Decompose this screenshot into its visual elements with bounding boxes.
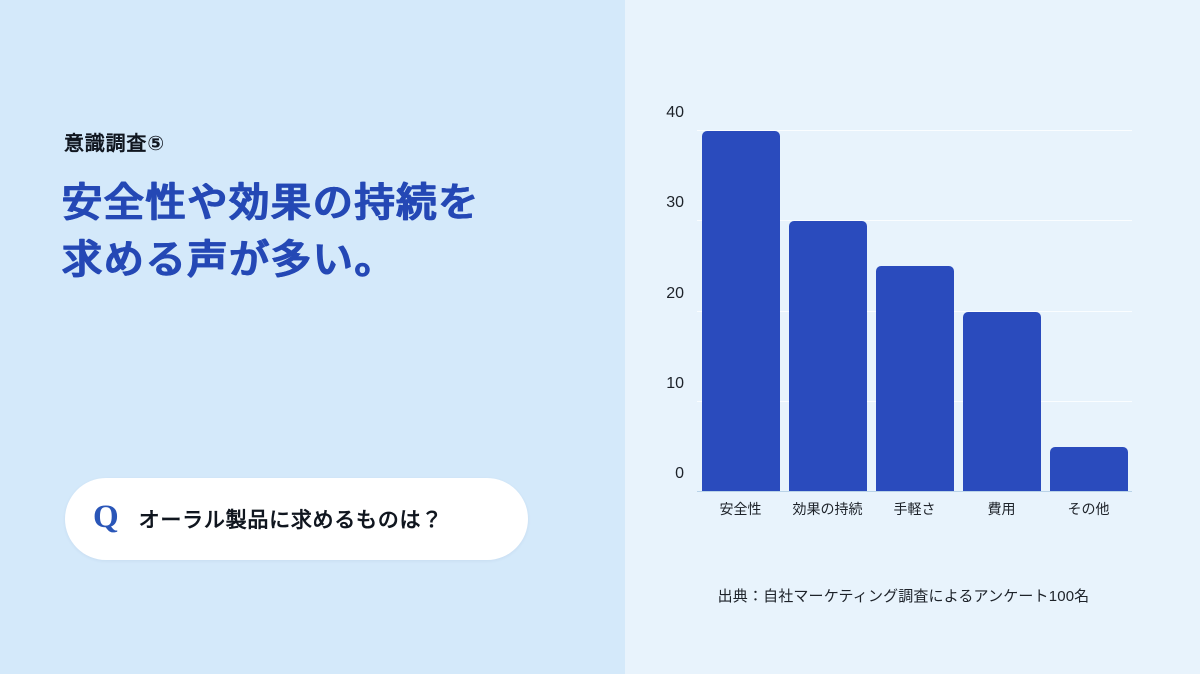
bar-slot bbox=[1045, 131, 1132, 492]
chart-x-axis-line bbox=[697, 491, 1132, 493]
x-axis-tick-label: 手軽さ bbox=[871, 499, 958, 519]
bar-slot bbox=[697, 131, 784, 492]
y-axis-tick-label: 20 bbox=[666, 285, 684, 303]
chart-bar[interactable] bbox=[1050, 447, 1128, 492]
y-axis-tick-label: 10 bbox=[666, 375, 684, 393]
page-title: 安全性や効果の持続を 求める声が多い。 bbox=[62, 175, 480, 289]
x-axis-tick-label: 安全性 bbox=[697, 499, 784, 519]
chart-x-axis-labels: 安全性効果の持続手軽さ費用その他 bbox=[697, 499, 1132, 519]
left-panel: 意識調査⑤ 安全性や効果の持続を 求める声が多い。 Q オーラル製品に求めるもの… bbox=[0, 0, 625, 674]
y-axis-tick-label: 40 bbox=[666, 104, 684, 122]
right-panel: 010203040 安全性効果の持続手軽さ費用その他 出典：自社マーケティング調… bbox=[625, 0, 1200, 674]
bar-slot bbox=[871, 131, 958, 492]
chart-bars bbox=[697, 131, 1132, 492]
x-axis-tick-label: 効果の持続 bbox=[784, 499, 871, 519]
chart-bar[interactable] bbox=[789, 221, 867, 492]
eyebrow-label: 意識調査⑤ bbox=[64, 127, 165, 156]
source-note: 出典：自社マーケティング調査によるアンケート100名 bbox=[625, 585, 1200, 606]
chart-bar[interactable] bbox=[963, 312, 1041, 493]
x-axis-tick-label: その他 bbox=[1045, 499, 1132, 519]
chart-bar[interactable] bbox=[876, 266, 954, 492]
y-axis-tick-label: 0 bbox=[675, 465, 684, 483]
question-marker-icon: Q bbox=[93, 501, 119, 537]
question-text: オーラル製品に求めるものは？ bbox=[139, 504, 443, 534]
bar-chart: 010203040 安全性効果の持続手軽さ費用その他 出典：自社マーケティング調… bbox=[625, 0, 1200, 674]
y-axis-tick-label: 30 bbox=[666, 194, 684, 212]
chart-bar[interactable] bbox=[702, 131, 780, 492]
chart-plot-area: 010203040 bbox=[697, 131, 1132, 492]
bar-slot bbox=[958, 131, 1045, 492]
question-card: Q オーラル製品に求めるものは？ bbox=[65, 478, 528, 560]
bar-slot bbox=[784, 131, 871, 492]
x-axis-tick-label: 費用 bbox=[958, 499, 1045, 519]
slide-root: 意識調査⑤ 安全性や効果の持続を 求める声が多い。 Q オーラル製品に求めるもの… bbox=[0, 0, 1200, 674]
